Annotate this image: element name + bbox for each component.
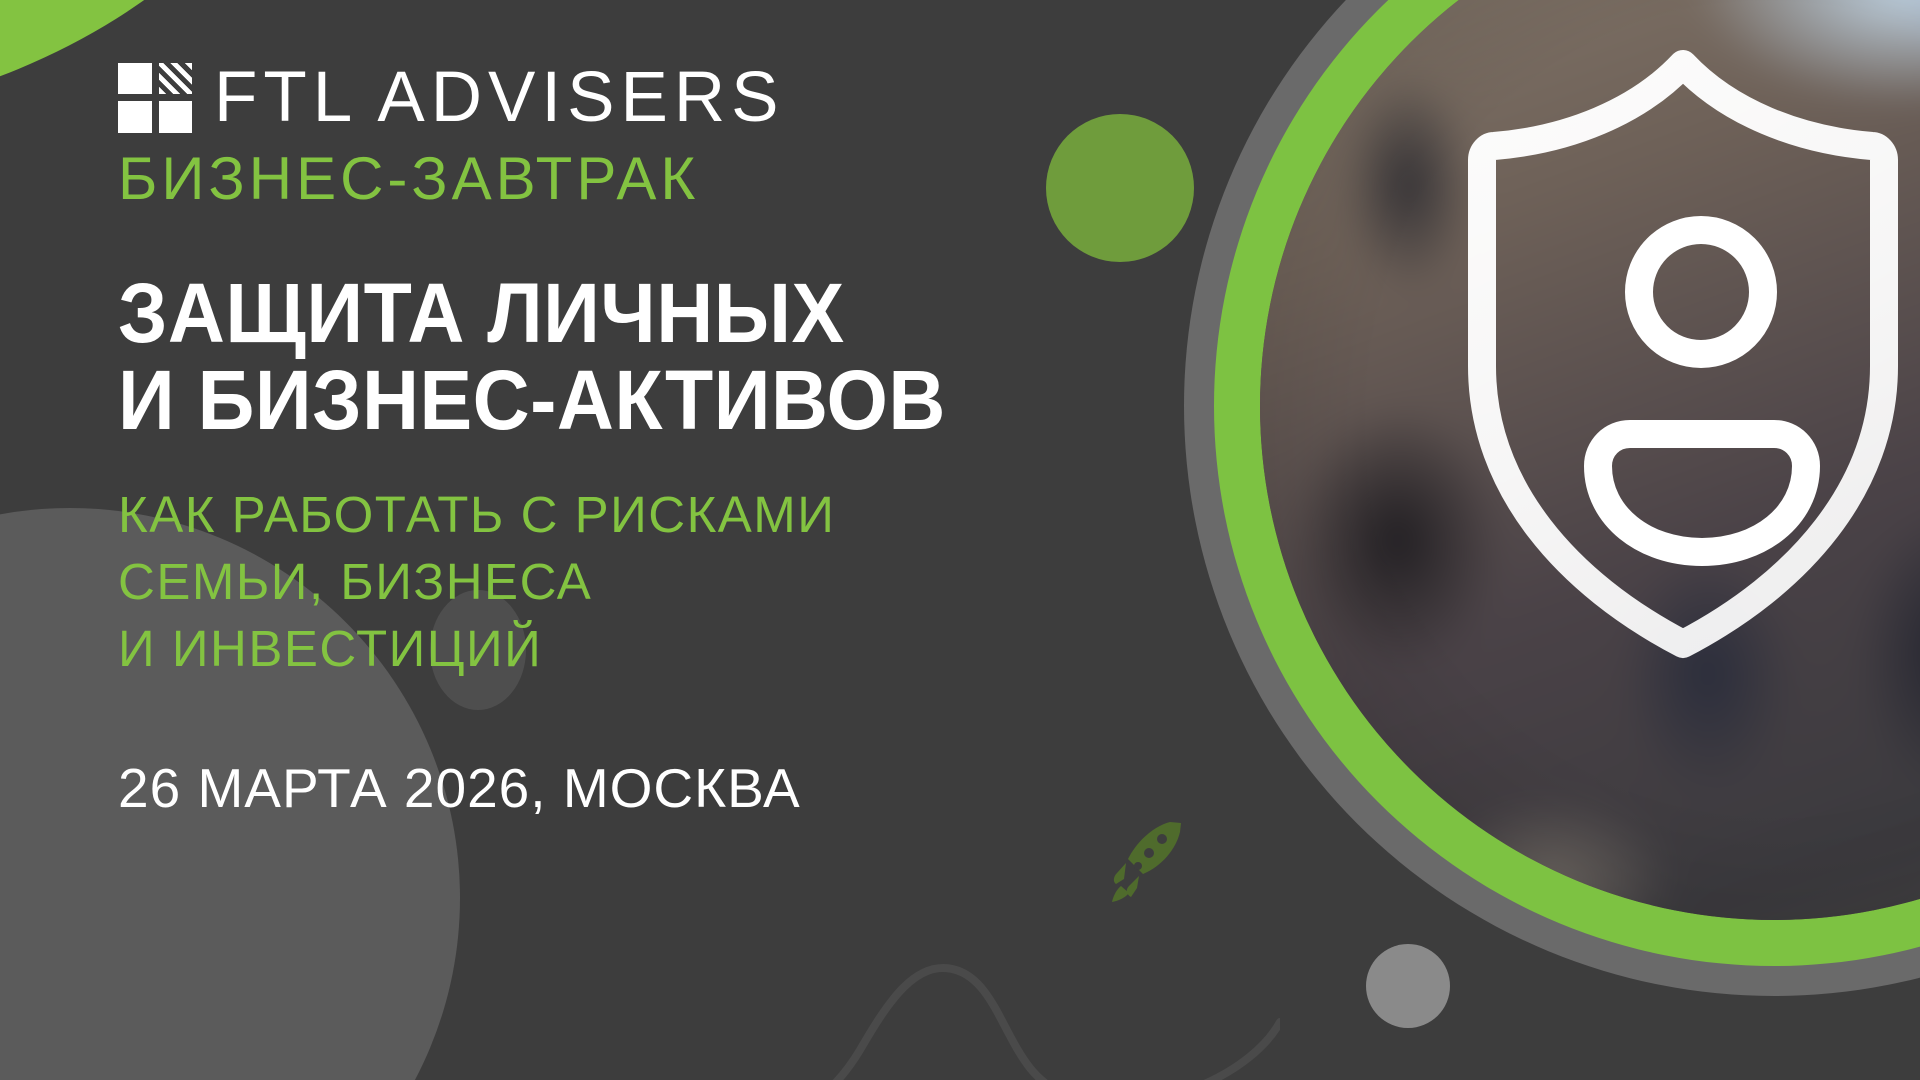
text-content-column: FTL ADVISERS БИЗНЕС-ЗАВТРАК ЗАЩИТА ЛИЧНЫ… [118,0,1118,1080]
ftl-grid-logo-icon [118,63,192,133]
brand-name: FTL ADVISERS [214,62,784,133]
logo-cell-top-right-hatched [159,63,193,95]
subheadline: КАК РАБОТАТЬ С РИСКАМИ СЕМЬИ, БИЗНЕСА И … [118,481,1118,683]
brand-subtitle: БИЗНЕС-ЗАВТРАК [118,147,1118,210]
headline: ЗАЩИТА ЛИЧНЫХ И БИЗНЕС-АКТИВОВ [118,270,1058,445]
subheadline-line-1: КАК РАБОТАТЬ С РИСКАМИ [118,481,1118,548]
headline-line-2: И БИЗНЕС-АКТИВОВ [118,357,1058,444]
promo-banner: FTL ADVISERS БИЗНЕС-ЗАВТРАК ЗАЩИТА ЛИЧНЫ… [0,0,1920,1080]
logo-cell-bottom-left [118,101,152,133]
shield-person-icon [1448,36,1918,676]
subheadline-line-2: СЕМЬИ, БИЗНЕСА [118,548,1118,615]
brand-lockup: FTL ADVISERS [118,62,1118,133]
logo-cell-top-left [118,63,152,95]
rocket-icon [1110,818,1184,902]
event-date-location: 26 МАРТА 2026, МОСКВА [118,761,1118,816]
subheadline-line-3: И ИНВЕСТИЦИЙ [118,615,1118,682]
headline-line-1: ЗАЩИТА ЛИЧНЫХ [118,270,1058,357]
logo-cell-bottom-right [159,101,193,133]
